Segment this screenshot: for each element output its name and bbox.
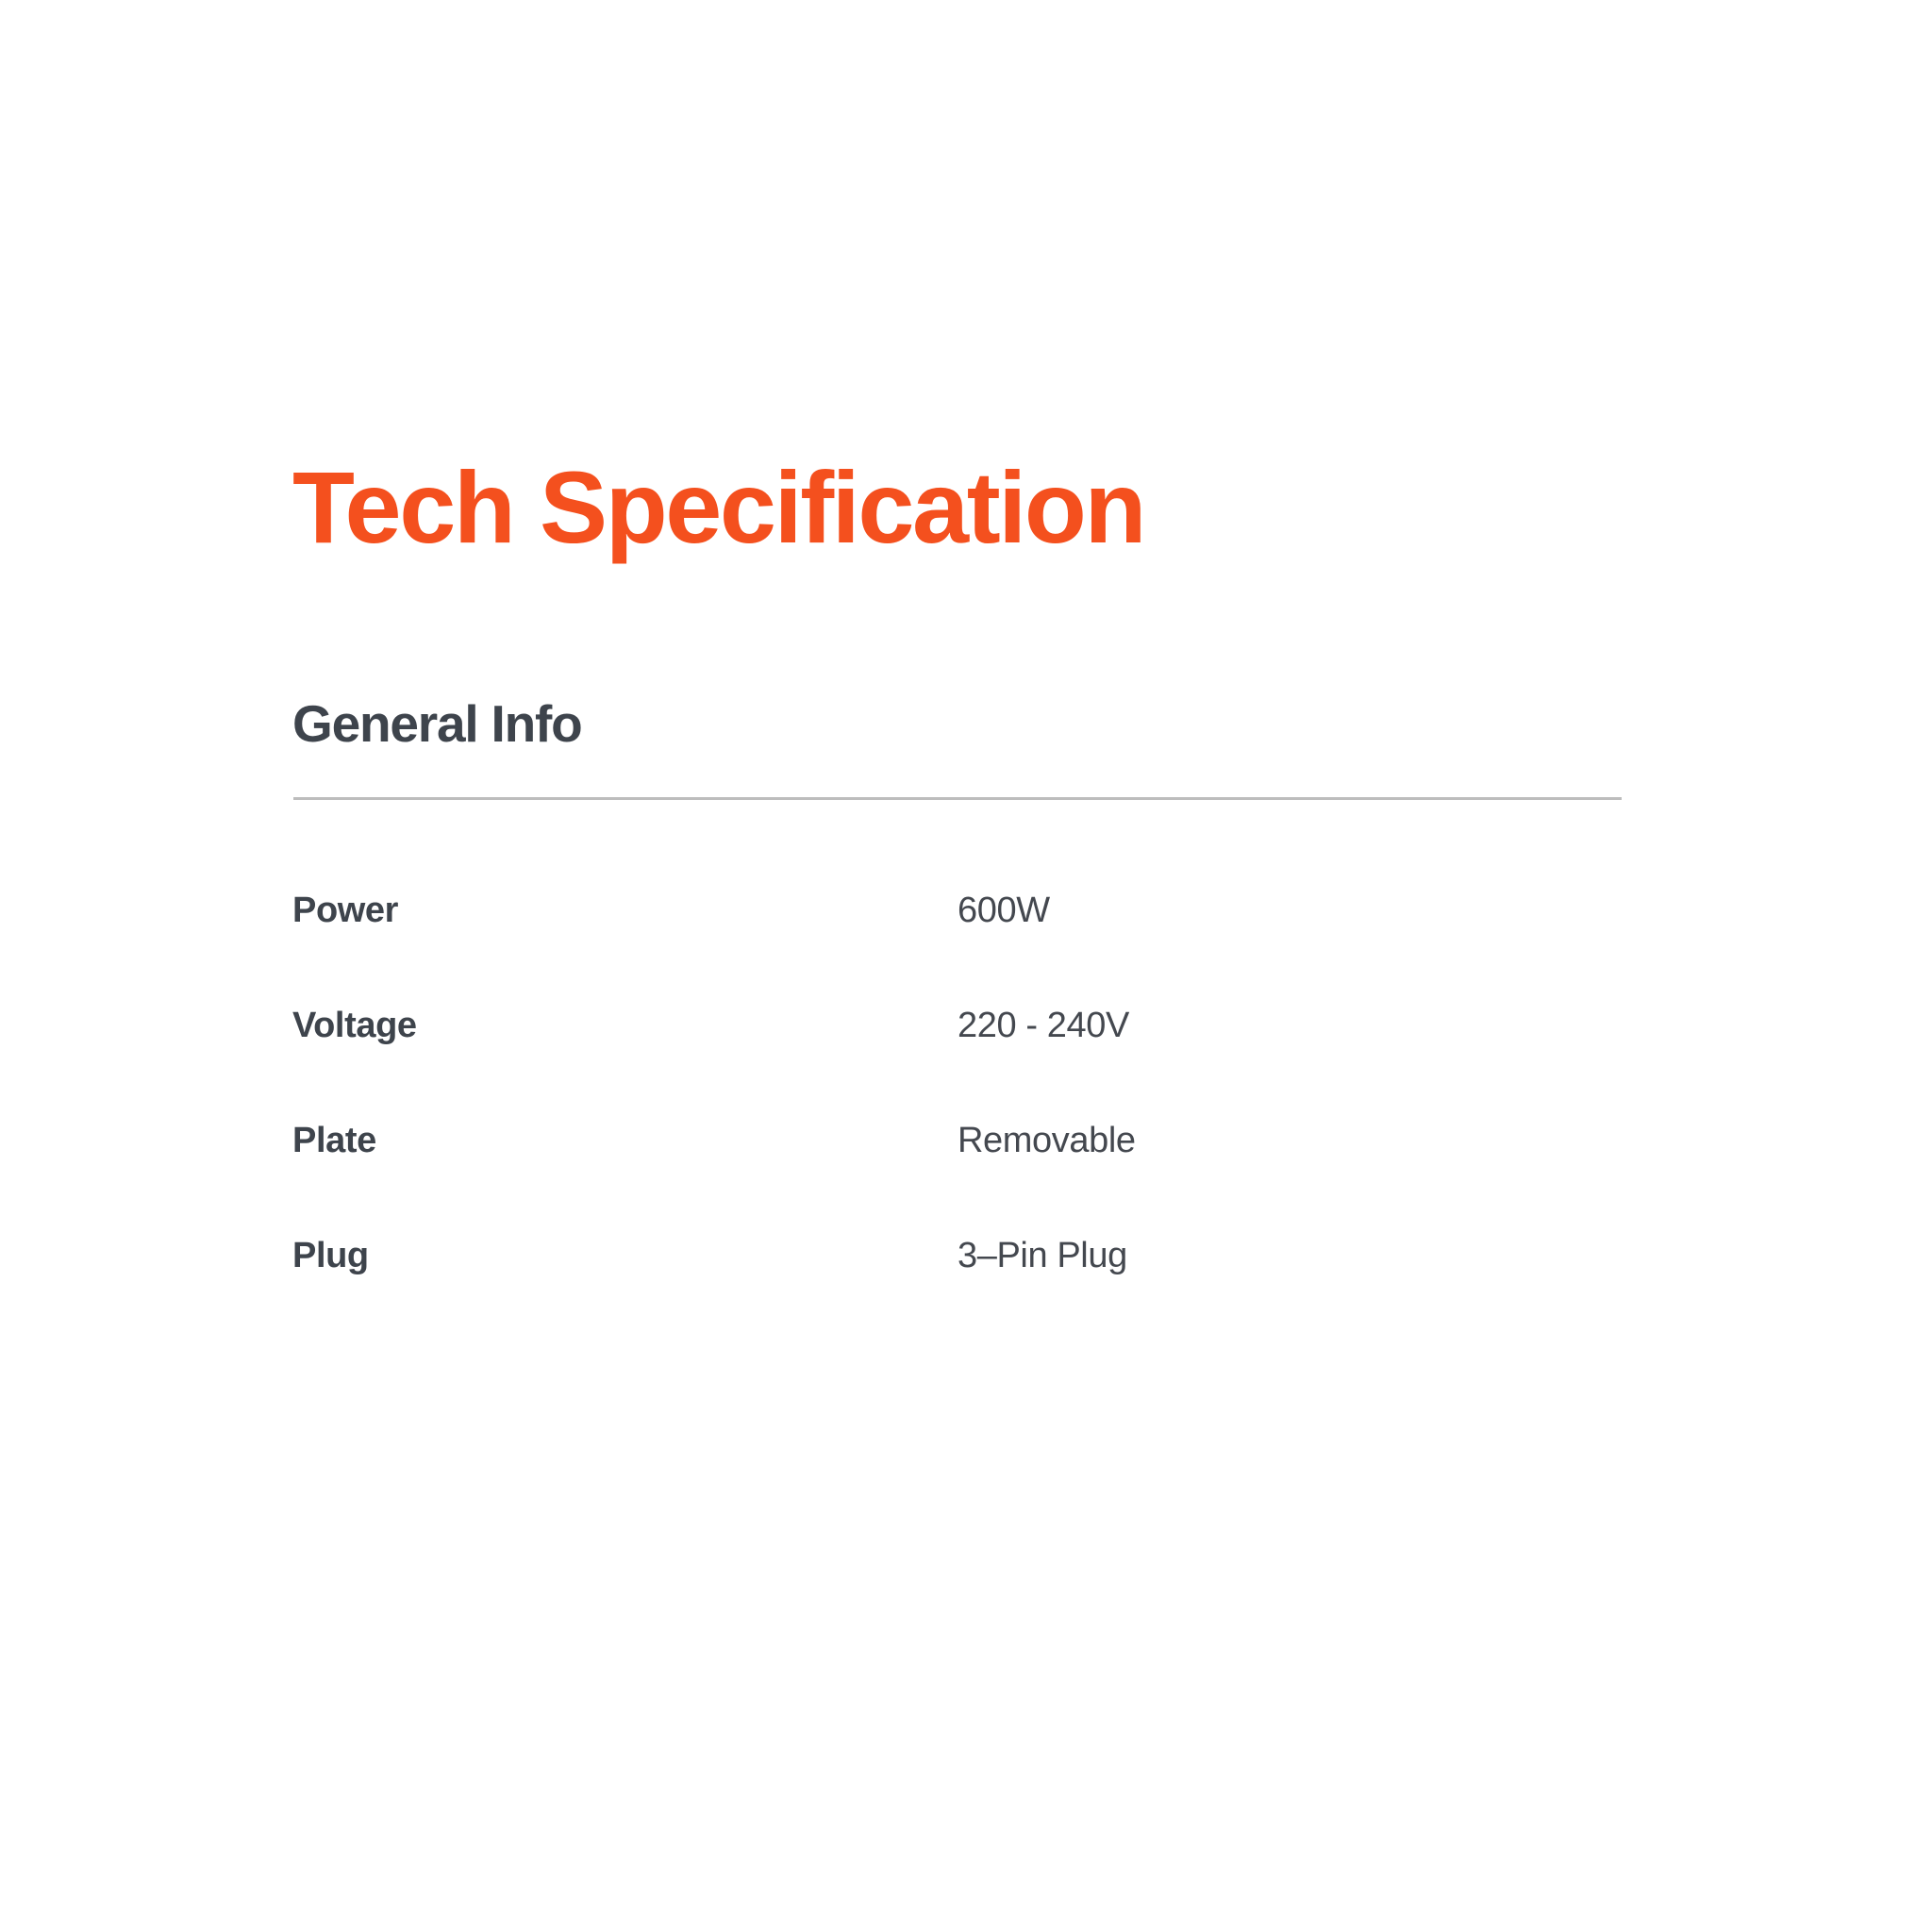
tech-specification-page: Tech Specification General Info Power 60… — [0, 0, 1932, 1932]
page-title: Tech Specification — [292, 453, 1623, 563]
section-divider — [293, 797, 1622, 800]
table-row: Power 600W — [292, 891, 1621, 1006]
spec-content-block: Tech Specification General Info Power 60… — [292, 453, 1623, 1351]
table-row: Plug 3–Pin Plug — [292, 1236, 1621, 1351]
table-row: Plate Removable — [292, 1121, 1621, 1236]
spec-table-body: Power 600W Voltage 220 - 240V Plate Remo… — [292, 891, 1621, 1351]
general-info-section: General Info Power 600W Voltage 220 - 24… — [292, 695, 1623, 1352]
spec-value: 3–Pin Plug — [958, 1236, 1621, 1351]
table-row: Voltage 220 - 240V — [292, 1006, 1621, 1121]
spec-table: Power 600W Voltage 220 - 240V Plate Remo… — [292, 891, 1621, 1351]
spec-value: 220 - 240V — [958, 1006, 1621, 1121]
spec-value: 600W — [958, 891, 1621, 1006]
spec-value: Removable — [958, 1121, 1621, 1236]
section-heading-general-info: General Info — [292, 695, 1623, 753]
spec-label: Plate — [292, 1121, 958, 1236]
spec-label: Voltage — [292, 1006, 958, 1121]
spec-label: Power — [292, 891, 958, 1006]
spec-label: Plug — [292, 1236, 958, 1351]
